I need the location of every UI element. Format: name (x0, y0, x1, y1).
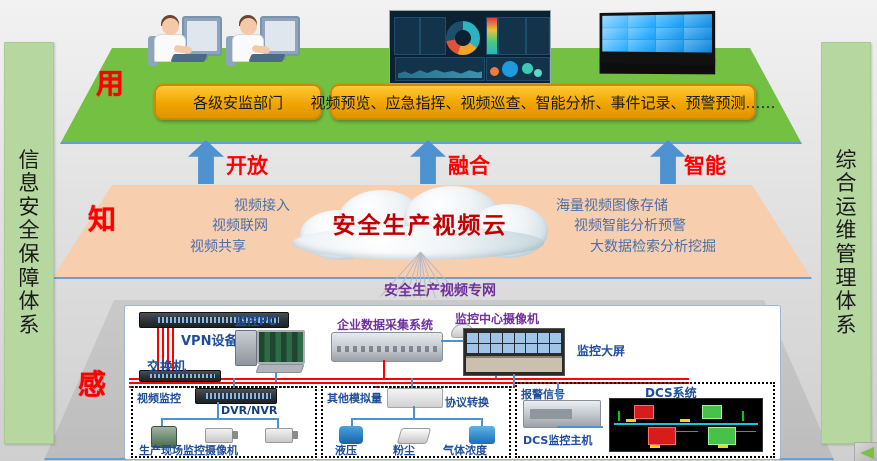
big-screen-label: 监控大屏 (577, 342, 625, 359)
pc-tower-shape (235, 330, 257, 366)
data-collection-label: 企业数据采集系统 (337, 316, 433, 333)
operators-illustration (146, 8, 306, 80)
pc-keyboard-shape (255, 364, 304, 373)
cloud-left-item: 视频联网 (140, 216, 268, 236)
color-scale-shape (486, 17, 498, 55)
site-camera-caption: 生产现场监控摄像机 (139, 442, 238, 458)
keyboard-shape (248, 54, 285, 62)
pillar-char: 体 (19, 291, 40, 313)
application-functions-box[interactable]: 视频预览、应急指挥、视频巡查、智能分析、事件记录、预警预测…… (330, 84, 756, 120)
cloud-right-item: 视频智能分析预警 (574, 216, 766, 236)
keyboard-shape (170, 54, 207, 62)
diagram-canvas: 各级安监部门 视频预览、应急指挥、视频巡查、智能分析、事件记录、预警预测…… 开… (0, 0, 877, 461)
dcs-host-label: DCS监控主机 (523, 432, 592, 448)
cloud-left-item: 视频接入 (140, 196, 290, 216)
hydraulic-label: 液压 (335, 442, 357, 458)
control-room-monitor-grid (467, 333, 561, 353)
up-arrow-icon (650, 140, 686, 184)
bubble-shape (534, 69, 542, 77)
pillar-char: 信 (19, 150, 40, 172)
sense-layer-network-diagram: VPN设备 交换机 监控PC 企业数据采集系统 监控中心摄像机 监控大屏 (124, 305, 781, 460)
pillar-char: 运 (836, 197, 857, 219)
video-wall-grid (602, 14, 712, 52)
control-room-photo (463, 328, 565, 376)
arrow-label-fusion: 融合 (448, 150, 490, 180)
pc-screen-shape (257, 330, 305, 364)
blue-link-line (217, 402, 219, 420)
blue-link-line (161, 418, 279, 420)
dashboard-panel (420, 17, 446, 55)
head-shape (162, 18, 179, 35)
bubble-shape (490, 67, 499, 76)
up-arrow-icon (188, 140, 224, 184)
pillar-char: 安 (19, 197, 40, 219)
blue-link-line (275, 372, 277, 382)
control-room-desk (466, 356, 562, 372)
layer-key-use: 用 (96, 62, 124, 102)
red-dotted-line (595, 378, 685, 380)
pillar-char: 维 (836, 220, 857, 242)
layer-key-sense: 感 (78, 363, 106, 403)
donut-chart-shape (446, 21, 480, 55)
pillar-char: 系 (836, 315, 857, 337)
blue-link-line (413, 406, 415, 420)
operator-figure (146, 10, 222, 78)
blue-link-line (557, 426, 603, 428)
box-camera-shape (265, 428, 293, 443)
pillar-char: 息 (19, 173, 40, 195)
arrow-label-open: 开放 (226, 150, 268, 180)
dcs-system-screen (609, 398, 763, 452)
dashboard-inner (390, 11, 550, 83)
pillar-char: 保 (19, 244, 40, 266)
pillar-char: 综 (836, 150, 857, 172)
box-camera-shape (205, 428, 233, 443)
head-shape (240, 18, 257, 35)
layer-key-know: 知 (88, 198, 116, 238)
sparkline-chart-shape (395, 57, 485, 81)
video-surveillance-title: 视频监控 (137, 390, 181, 406)
dashboard-screenshot (389, 10, 551, 84)
cloud-title: 安全生产视频云 (286, 206, 554, 240)
video-cloud-shape: 安全生产视频云 (286, 186, 554, 262)
gas-concentration-label: 气体浓度 (443, 442, 487, 458)
dashboard-panel (394, 17, 420, 55)
pillar-char: 理 (836, 268, 857, 290)
dashboard-panel (526, 17, 550, 55)
video-wall-illustration (590, 8, 720, 80)
operations-management-pillar: 综 合 运 维 管 理 体 系 (821, 42, 871, 444)
private-network-label: 安全生产视频专网 (330, 280, 550, 300)
up-arrow-icon (410, 140, 446, 184)
blue-link-line (411, 378, 413, 388)
pillar-char: 体 (836, 291, 857, 313)
cloud-left-item: 视频共享 (140, 237, 246, 257)
cloud-left-capabilities: 视频接入 视频联网 视频共享 (140, 196, 290, 257)
protocol-converter-shape (387, 388, 443, 408)
dvr-nvr-label: DVR/NVR (221, 404, 277, 417)
cloud-right-item: 大数据检索分析挖掘 (590, 237, 766, 257)
data-collection-server-shape (331, 332, 443, 362)
video-wall-body (600, 11, 716, 65)
blue-link-line (351, 418, 483, 420)
bubble-shape (522, 63, 533, 74)
pillar-char: 合 (836, 173, 857, 195)
bubble-shape (502, 61, 518, 77)
arrow-label-intelligent: 智能 (684, 150, 726, 180)
blue-link-line (233, 378, 235, 388)
vpn-device-label: VPN设备 (181, 330, 237, 349)
pillar-char: 系 (19, 315, 40, 337)
cloud-right-capabilities: 海量视频图像存储 视频智能分析预警 大数据检索分析挖掘 (556, 196, 766, 257)
dcs-host-shape (523, 400, 601, 428)
dust-label: 粉尘 (393, 442, 415, 458)
pillar-char: 障 (19, 268, 40, 290)
dashboard-panel (498, 17, 526, 55)
operator-figure (224, 10, 300, 78)
cloud-right-item: 海量视频图像存储 (556, 196, 766, 216)
pillar-char: 管 (836, 244, 857, 266)
pillar-char: 全 (19, 220, 40, 242)
supervision-department-box[interactable]: 各级安监部门 (154, 84, 322, 120)
red-vertical-line (383, 360, 385, 380)
protocol-converter-label: 协议转换 (445, 394, 489, 410)
blue-link-line (557, 382, 559, 400)
switch-label: 交换机 (147, 356, 186, 375)
monitor-pc-label: 监控PC (235, 312, 277, 329)
analog-signal-title: 其他模拟量 (327, 390, 382, 406)
dvr-nvr-shape (195, 388, 277, 404)
information-security-pillar: 信 息 安 全 保 障 体 系 (4, 42, 54, 444)
